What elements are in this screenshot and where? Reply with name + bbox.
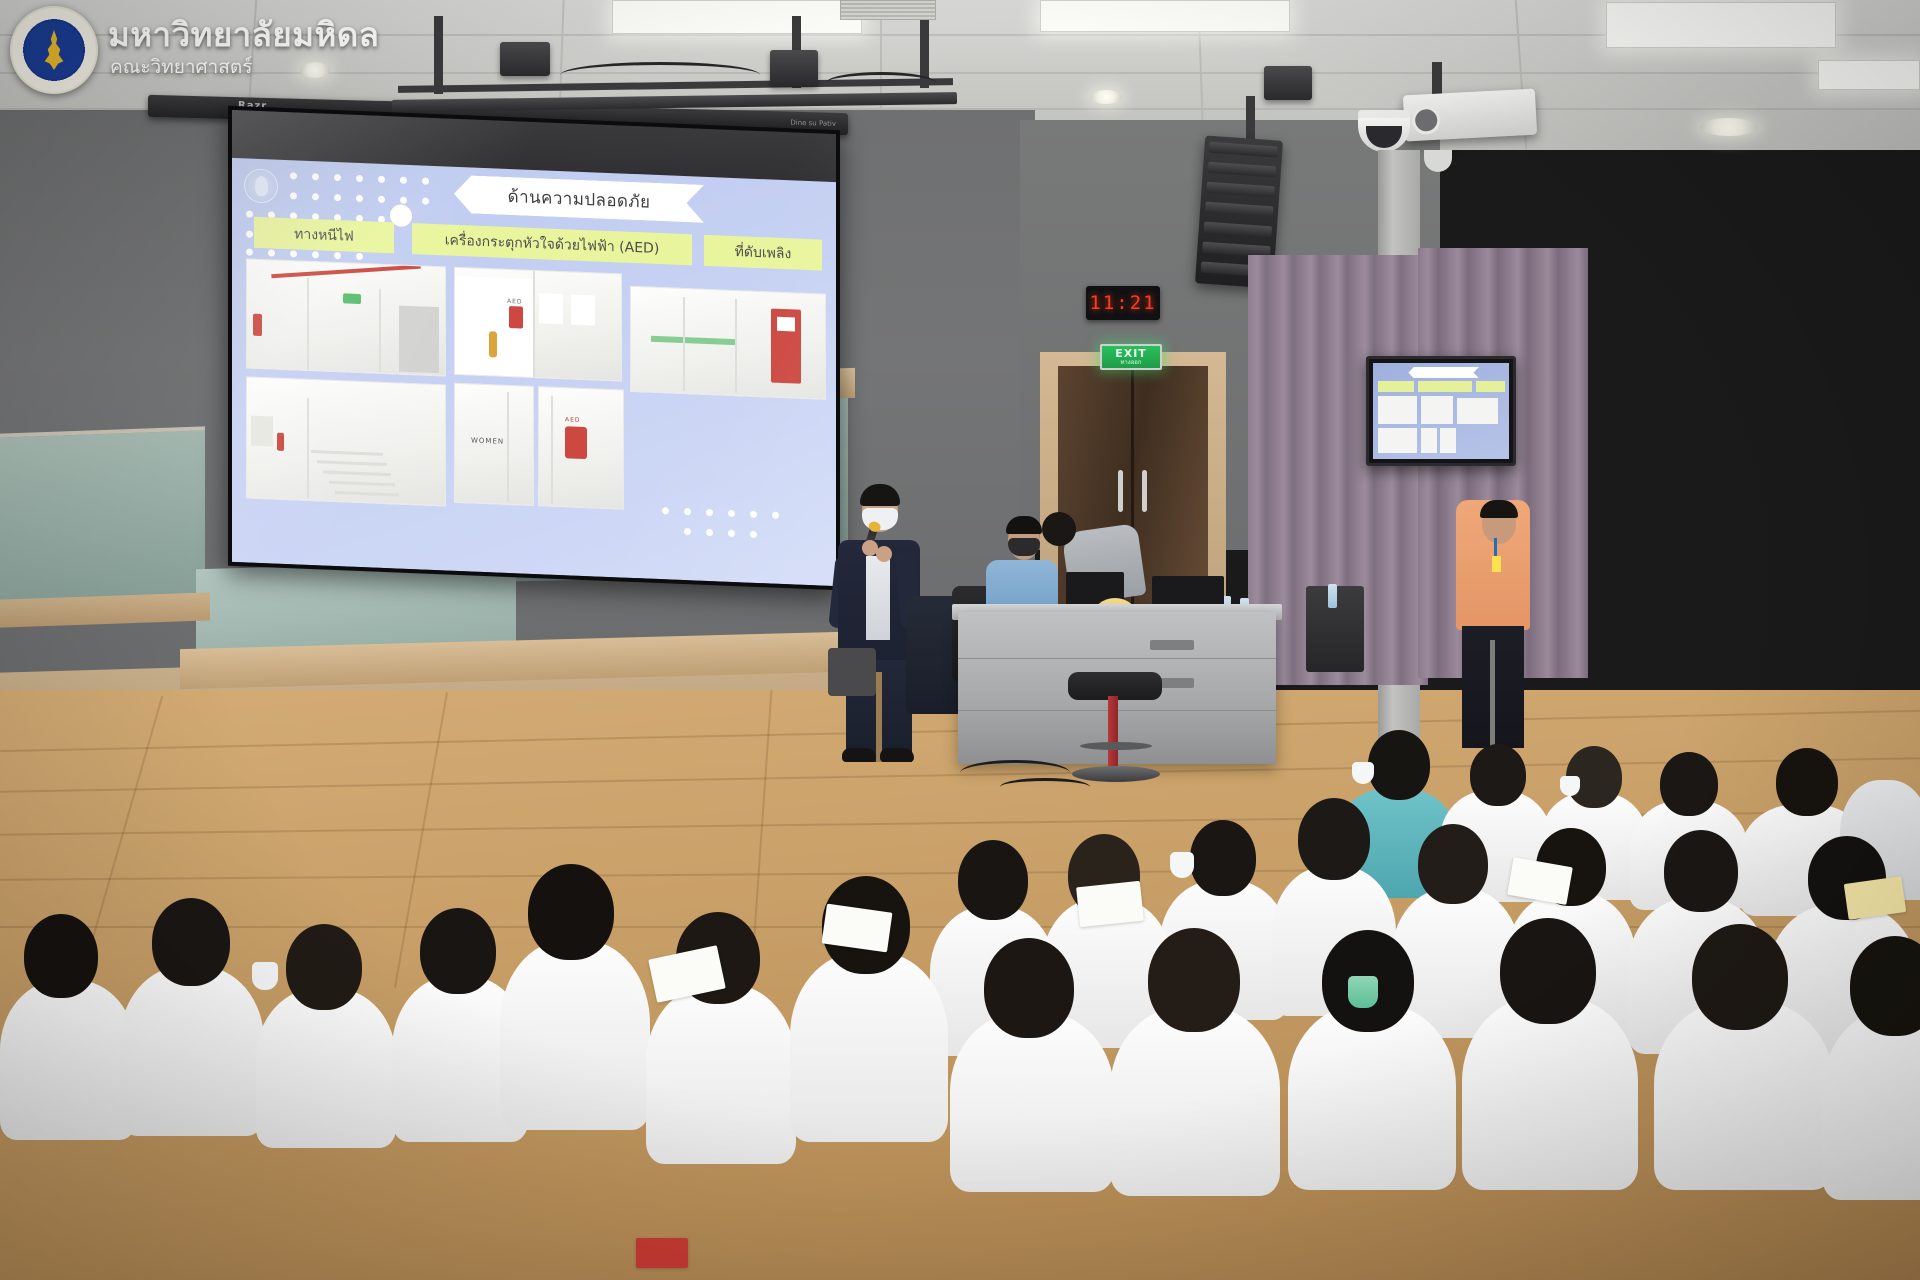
speaker-mount-pole bbox=[1246, 96, 1255, 144]
slide-chip-fire-exit: ทางหนีไฟ bbox=[254, 217, 394, 254]
face-mask bbox=[252, 962, 278, 990]
bar-stool-base bbox=[1072, 766, 1160, 782]
clock-time: 11:21 bbox=[1089, 292, 1156, 314]
audience-member-head bbox=[24, 914, 98, 998]
audience-member-torso bbox=[256, 988, 396, 1148]
digital-wall-clock: 11:21 bbox=[1086, 286, 1160, 320]
slide-chip-aed: เครื่องกระตุกหัวใจด้วยไฟฟ้า (AED) bbox=[412, 223, 692, 265]
audience-member-torso bbox=[1822, 1010, 1920, 1200]
attendant-leg-gap bbox=[1490, 640, 1495, 748]
red-folder[interactable] bbox=[636, 1238, 688, 1268]
audience-member-torso bbox=[1462, 996, 1638, 1190]
face-mask-green bbox=[1348, 976, 1378, 1008]
ceiling-light-panel bbox=[1040, 0, 1290, 32]
audience-member-torso bbox=[500, 940, 650, 1130]
floor-cable bbox=[1000, 778, 1090, 796]
mahidol-university-seal bbox=[10, 6, 98, 94]
water-bottle[interactable] bbox=[1328, 584, 1337, 608]
bending-staff-head bbox=[1042, 512, 1076, 546]
ceiling-light-panel bbox=[1606, 2, 1836, 48]
downlight bbox=[1700, 118, 1758, 136]
exit-sign-text-th: ทางออก bbox=[1120, 359, 1141, 366]
audience-member-head bbox=[1776, 748, 1838, 816]
audience-member-head bbox=[1660, 752, 1718, 816]
face-mask bbox=[1352, 762, 1374, 784]
presenter-shoe bbox=[880, 748, 914, 762]
truss-speaker bbox=[1264, 66, 1312, 100]
tv-chip bbox=[1476, 381, 1505, 392]
face-mask bbox=[1170, 852, 1194, 878]
ptz-camera bbox=[1424, 150, 1452, 172]
truss-speaker bbox=[770, 50, 818, 86]
seal-inner-disc bbox=[25, 21, 83, 79]
audience-member-head bbox=[1148, 928, 1240, 1032]
tv-photo bbox=[1421, 428, 1437, 453]
audience-member-torso bbox=[646, 984, 796, 1164]
exit-sign-text-en: EXIT bbox=[1115, 348, 1147, 359]
door-handle[interactable] bbox=[1142, 470, 1147, 512]
presentation-slide: ด้านความปลอดภัย ทางหนีไฟ เครื่องกระตุกหั… bbox=[232, 158, 836, 586]
exit-sign: EXIT ทางออก bbox=[1100, 344, 1162, 370]
slide-photo-restroom: WOMEN bbox=[454, 383, 534, 506]
tv-photo bbox=[1421, 396, 1454, 425]
hanging-cable bbox=[560, 62, 760, 88]
slide-photo-aed-door: AED bbox=[454, 267, 622, 382]
ceiling-light-panel bbox=[1818, 60, 1920, 90]
audience-member-head bbox=[528, 864, 614, 960]
lecture-hall-photo: Razr Dine su Pativ bbox=[0, 0, 1920, 1280]
tv-chip bbox=[1378, 381, 1413, 392]
audience-member-head bbox=[1692, 924, 1788, 1030]
attendant-id-badge bbox=[1492, 556, 1501, 572]
face-mask bbox=[1560, 776, 1580, 796]
attendant-lanyard bbox=[1494, 538, 1497, 558]
ceiling-projector bbox=[1403, 89, 1537, 142]
projection-screen: ด้านความปลอดภัย ทางหนีไฟ เครื่องกระตุกหั… bbox=[232, 110, 836, 586]
seated-panelist-mask bbox=[1008, 538, 1040, 556]
audience-member-head bbox=[958, 840, 1028, 920]
slide-photo-entrance bbox=[630, 286, 826, 400]
presenter-shoe bbox=[842, 748, 876, 762]
audience-member-torso bbox=[0, 980, 136, 1140]
slide-title: ด้านความปลอดภัย bbox=[454, 175, 704, 223]
audience-member-torso bbox=[1110, 1006, 1280, 1196]
tv-photo bbox=[1378, 428, 1416, 453]
audience-member-torso bbox=[790, 952, 948, 1142]
downlight bbox=[1090, 90, 1122, 104]
presenter-shirt bbox=[866, 556, 890, 640]
tv-photo bbox=[1378, 396, 1416, 425]
slide-photo-corridor bbox=[246, 258, 446, 376]
audience-member-head bbox=[984, 938, 1074, 1038]
slide-photo-label-aed: AED bbox=[507, 298, 523, 306]
truss-speaker bbox=[500, 42, 550, 76]
audience-member-head bbox=[1500, 918, 1596, 1024]
floor-bag bbox=[828, 648, 876, 696]
tv-photo bbox=[1457, 398, 1498, 425]
audience-member-torso bbox=[120, 966, 264, 1136]
audience-member-head bbox=[1298, 798, 1370, 880]
bar-stool-post bbox=[1108, 696, 1118, 772]
slide-photo-label-women: WOMEN bbox=[471, 436, 504, 445]
handout-paper[interactable] bbox=[1076, 881, 1144, 927]
presenter-hand bbox=[876, 546, 892, 562]
branding-overlay: มหาวิทยาลัยมหิดล คณะวิทยาศาสตร์ bbox=[0, 0, 430, 102]
ceiling-light-panel bbox=[612, 0, 862, 34]
screen-case-note: Dine su Pativ bbox=[790, 119, 836, 128]
door-handle[interactable] bbox=[1118, 470, 1123, 512]
truss-drop-rod bbox=[434, 16, 443, 94]
audience-member-head bbox=[1368, 730, 1430, 800]
presenter-leg-gap bbox=[876, 672, 882, 762]
audience-member-head bbox=[1190, 820, 1256, 896]
audience-member-head bbox=[152, 898, 230, 986]
side-display-tv bbox=[1366, 356, 1516, 466]
tv-chip bbox=[1418, 381, 1472, 392]
whiteboard-left bbox=[0, 426, 205, 603]
seal-emblem-icon bbox=[41, 30, 67, 70]
slide-seal-icon bbox=[244, 168, 278, 203]
audience-member-torso bbox=[950, 1012, 1114, 1192]
tv-photo bbox=[1440, 428, 1456, 453]
hanging-cable bbox=[826, 72, 936, 94]
slide-photo-stairs bbox=[246, 376, 446, 506]
ceiling-vent bbox=[840, 0, 936, 20]
attendant-hair bbox=[1480, 500, 1518, 518]
audience-member-head bbox=[286, 924, 362, 1010]
audience-member-head bbox=[420, 908, 496, 994]
audience-member-head bbox=[1664, 830, 1738, 912]
tv-slide-title bbox=[1408, 367, 1479, 379]
projector-mount bbox=[1432, 62, 1442, 96]
slide-photo-aed-wall: AED bbox=[538, 386, 624, 509]
slide-chip-fire-extinguisher: ที่ดับเพลิง bbox=[704, 235, 822, 271]
faculty-name: คณะวิทยาศาสตร์ bbox=[110, 52, 252, 82]
audience-member-head bbox=[1470, 744, 1526, 806]
bar-stool-footring bbox=[1080, 742, 1152, 750]
audience-member-head bbox=[1418, 824, 1488, 904]
